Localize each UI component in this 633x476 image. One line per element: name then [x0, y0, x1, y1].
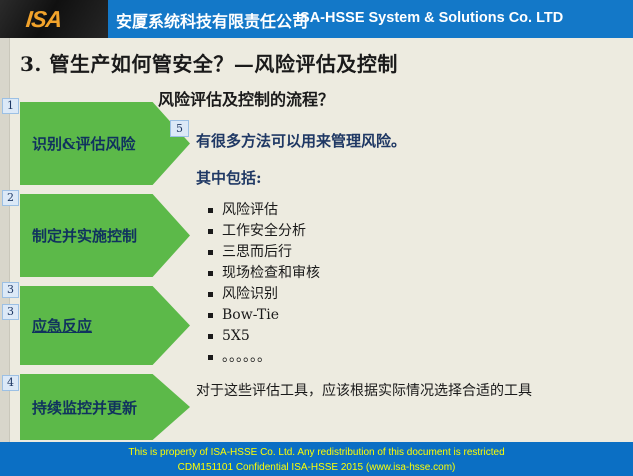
slide-title: 3. 管生产如何管安全？—风险评估及控制	[20, 48, 398, 77]
slide-canvas: ISA 安厦系统科技有限责任公司 ISA-HSSE System & Solut…	[0, 0, 633, 476]
content-badge-5[interactable]: 5	[170, 120, 189, 137]
list-item: 三思而后行	[222, 242, 626, 263]
slide-subtitle: 风险评估及控制的流程？	[158, 86, 334, 110]
flow-step-develop-implement-controls[interactable]: 制定并实施控制	[20, 194, 190, 277]
list-item: 风险评估	[222, 200, 626, 221]
slide-header: ISA 安厦系统科技有限责任公司 ISA-HSSE System & Solut…	[0, 0, 633, 38]
step-badge-1[interactable]: 1	[2, 98, 19, 114]
flow-step-label-1: 识别&评估风险	[20, 133, 136, 154]
step-badge-3a[interactable]: 3	[2, 282, 19, 298]
header-company-name-cn: 安厦系统科技有限责任公司	[116, 8, 308, 32]
step-badge-3b[interactable]: 3	[2, 304, 19, 320]
step-badge-4[interactable]: 4	[2, 375, 19, 391]
list-item: 工作安全分析	[222, 221, 626, 242]
list-item: 现场检查和审核	[222, 263, 626, 284]
flow-step-label-2: 制定并实施控制	[20, 225, 137, 246]
flow-step-emergency-response[interactable]: 应急反应	[20, 286, 190, 365]
list-item: Bow-Tie	[222, 305, 626, 326]
methods-bullet-list: 风险评估 工作安全分析 三思而后行 现场检查和审核 风险识别 Bow-Tie 5…	[196, 200, 626, 368]
content-closing-note: 对于这些评估工具，应该根据实际情况选择合适的工具	[196, 381, 548, 401]
list-item: 。。。。。。	[222, 347, 626, 368]
content-panel: 有很多方法可以用来管理风险。 其中包括: 风险评估 工作安全分析 三思而后行 现…	[196, 130, 626, 415]
flow-step-label-3: 应急反应	[20, 315, 92, 336]
list-item: 5X5	[222, 326, 626, 347]
flow-step-label-4: 持续监控并更新	[20, 397, 137, 418]
footer-line-1: This is property of ISA-HSSE Co. Ltd. An…	[0, 442, 633, 460]
content-lead-line-2: 其中包括:	[196, 167, 626, 188]
list-item: 风险识别	[222, 284, 626, 305]
flow-step-identify-assess-risk[interactable]: 识别&评估风险	[20, 102, 190, 185]
footer-line-2: CDM151101 Confidential ISA-HSSE 2015 (ww…	[0, 460, 633, 475]
slide-footer: This is property of ISA-HSSE Co. Ltd. An…	[0, 442, 633, 476]
header-company-name-en: ISA-HSSE System & Solutions Co. LTD	[296, 10, 563, 26]
content-lead-line-1: 有很多方法可以用来管理风险。	[196, 130, 626, 151]
isa-logo-text: ISA	[25, 6, 63, 33]
isa-logo: ISA	[0, 0, 108, 38]
step-badge-2[interactable]: 2	[2, 190, 19, 206]
flow-step-continuous-monitor-update[interactable]: 持续监控并更新	[20, 374, 190, 440]
